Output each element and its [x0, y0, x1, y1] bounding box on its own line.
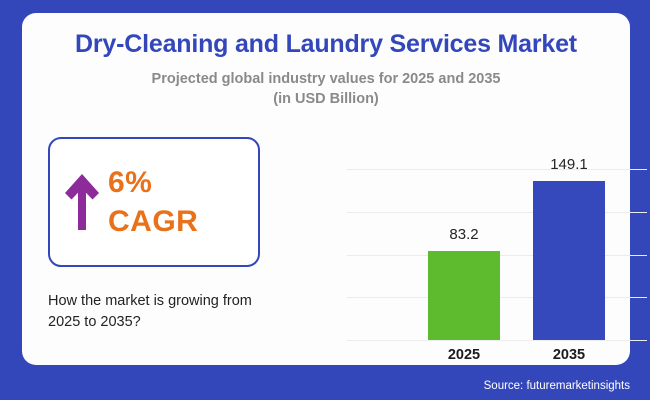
header: Dry-Cleaning and Laundry Services Market… — [22, 13, 630, 109]
arrow-up-icon — [62, 171, 102, 233]
bar-value-2035: 149.1 — [533, 157, 605, 172]
bar-value-2025: 83.2 — [428, 227, 500, 242]
cagr-highlight-box: 6% CAGR — [48, 137, 260, 267]
cagr-label: CAGR — [108, 207, 198, 237]
body: 6% CAGR How the market is growing from 2… — [22, 137, 630, 365]
source-note: Source: futuremarketinsights — [484, 380, 630, 392]
cagr-text-group: 6% CAGR — [108, 168, 198, 237]
plot-area: 83.22025149.12035 — [347, 169, 647, 340]
cagr-caption: How the market is growing from 2025 to 2… — [48, 291, 263, 333]
axis-label-2025: 2025 — [428, 347, 500, 363]
bar-chart: 83.22025149.12035 — [347, 137, 647, 365]
page-title: Dry-Cleaning and Laundry Services Market — [22, 29, 630, 59]
infographic-card: Dry-Cleaning and Laundry Services Market… — [22, 13, 630, 365]
gridline — [347, 340, 647, 341]
bar-group-2035: 149.12035 — [533, 169, 605, 340]
chart-subtitle: Projected global industry values for 202… — [22, 70, 630, 109]
bar-group-2025: 83.22025 — [428, 169, 500, 340]
cagr-panel: 6% CAGR How the market is growing from 2… — [48, 137, 273, 333]
bar-2035[interactable] — [533, 181, 605, 340]
bars-layer: 83.22025149.12035 — [347, 169, 647, 340]
cagr-value: 6% — [108, 168, 198, 198]
axis-label-2035: 2035 — [533, 347, 605, 363]
bar-2025[interactable] — [428, 251, 500, 340]
